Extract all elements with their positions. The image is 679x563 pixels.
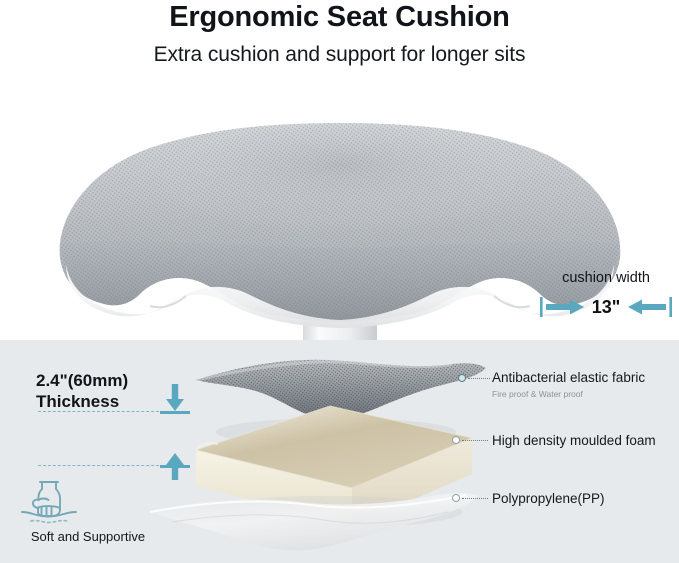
callout-dot-base [452,494,460,502]
callout-leader-fabric [468,378,490,379]
callout-leader-foam [462,440,488,441]
callout-dot-fabric [458,374,466,382]
arrow-up-icon [165,452,185,480]
callout-dot-foam [452,436,460,444]
soft-supportive-feature: Soft and Supportive [18,478,158,543]
arrow-left-icon [626,296,672,318]
callout-foam-title: High density moulded foam [492,433,656,449]
thickness-guide-bottom [38,465,164,466]
page-title: Ergonomic Seat Cushion [0,0,679,32]
callout-fabric-subtitle: Fire proof & Water proof [492,389,645,399]
thickness-arrows [160,370,194,482]
arrow-right-icon [540,296,586,318]
thickness-guide-top [38,411,164,412]
hand-pressing-cushion-icon [18,478,158,526]
infographic-canvas: Ergonomic Seat Cushion Extra cushion and… [0,0,679,563]
soft-supportive-caption: Soft and Supportive [18,530,158,543]
callout-leader-base [462,498,488,499]
callout-fabric: Antibacterial elastic fabric Fire proof … [492,370,645,399]
cushion-width-value: 13" [586,298,627,316]
callout-fabric-title: Antibacterial elastic fabric [492,370,645,386]
callout-foam: High density moulded foam [492,433,656,449]
page-subtitle: Extra cushion and support for longer sit… [0,32,679,65]
header: Ergonomic Seat Cushion Extra cushion and… [0,0,679,65]
cushion-width-annotation: cushion width 13" [536,271,676,316]
callout-base-title: Polypropylene(PP) [492,491,605,507]
arrow-down-icon [165,384,185,412]
callout-base: Polypropylene(PP) [492,491,605,507]
cushion-width-label: cushion width [536,271,676,286]
